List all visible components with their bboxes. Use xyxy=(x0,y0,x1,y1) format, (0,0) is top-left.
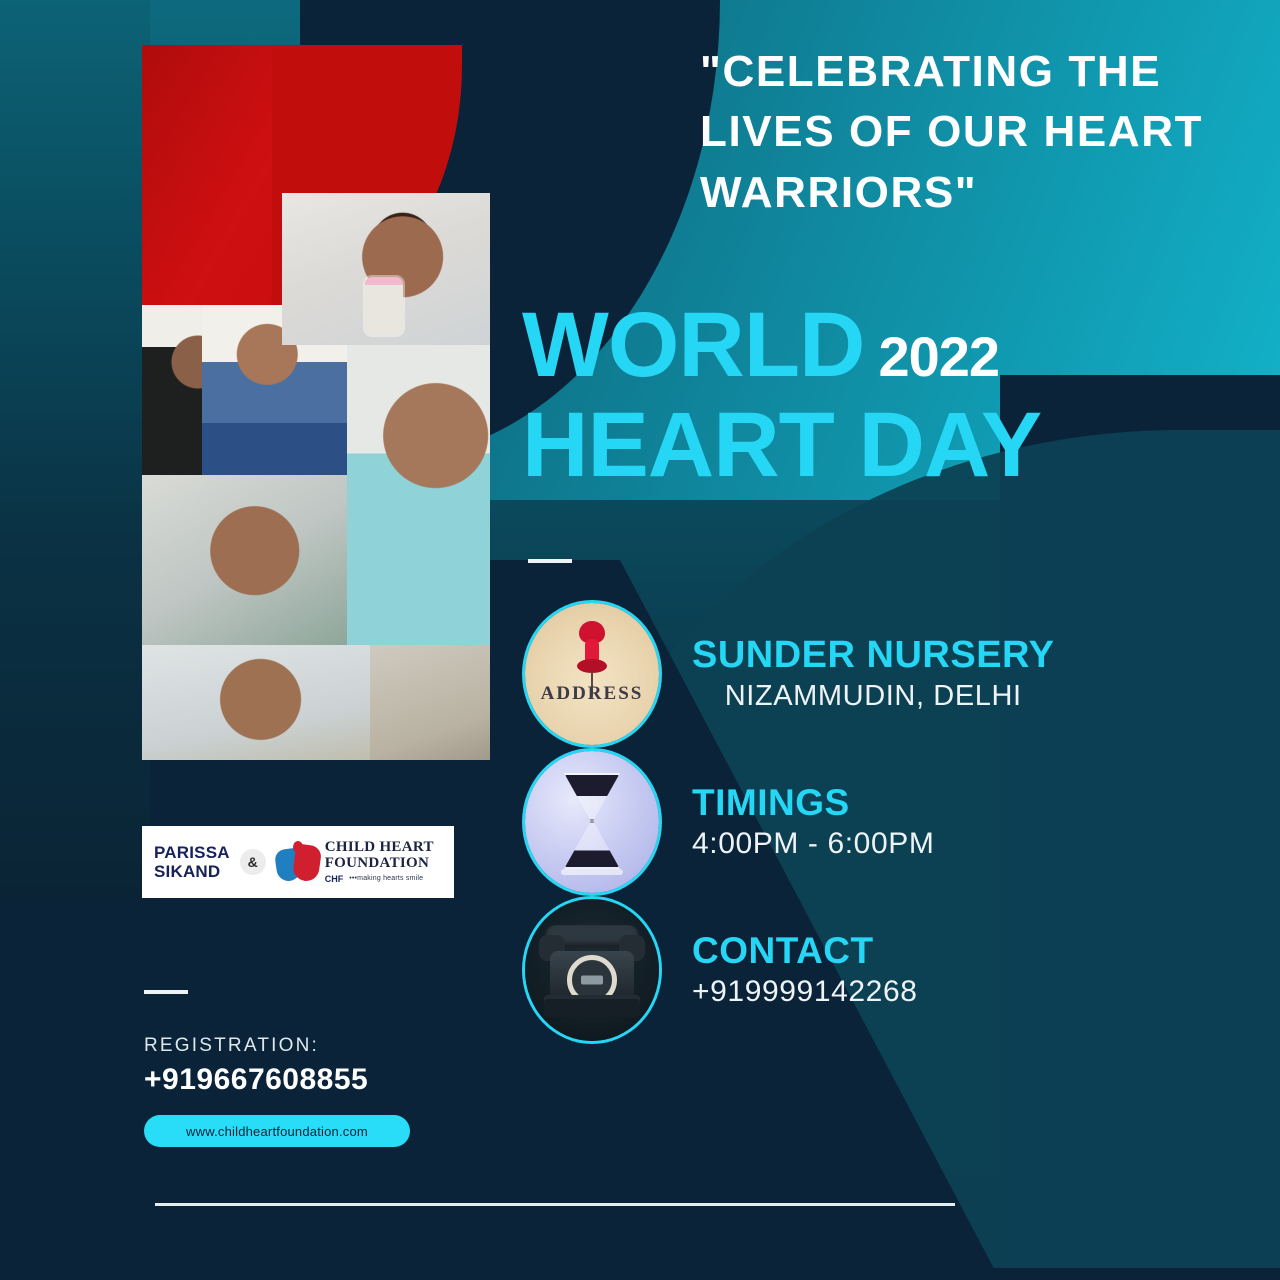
timings-label: TIMINGS xyxy=(692,783,934,824)
chf-name-line1: CHILD HEART xyxy=(325,840,434,856)
event-details: ADDRESS SUNDER NURSERY NIZAMMUDIN, DELHI… xyxy=(522,600,1162,1044)
partner-name-line1: PARISSA xyxy=(154,843,230,862)
poster-canvas: "CELEBRATING THE LIVES OF OUR HEART WARR… xyxy=(0,0,1280,1280)
quote-line-2: LIVES OF OUR HEART xyxy=(700,102,1270,162)
tagline-quote: "CELEBRATING THE LIVES OF OUR HEART WARR… xyxy=(700,42,1270,223)
contact-number[interactable]: +919999142268 xyxy=(692,975,918,1009)
contact-label: CONTACT xyxy=(692,931,918,972)
venue-name: SUNDER NURSERY xyxy=(692,635,1054,677)
decorative-dash-top xyxy=(528,559,572,563)
chf-name-line2: FOUNDATION xyxy=(325,856,434,872)
address-icon-caption: ADDRESS xyxy=(525,683,659,705)
title-heart-day: HEART DAY xyxy=(522,396,1041,495)
partner-logo-strip: PARISSA SIKAND & CHILD HEART FOUNDATION … xyxy=(142,826,454,898)
background-bottom-strip xyxy=(0,1268,1280,1280)
collage-photo xyxy=(142,645,370,760)
title-world: WORLD xyxy=(522,300,864,390)
background-left-sliver xyxy=(0,0,150,900)
partner-name-line2: SIKAND xyxy=(154,862,230,881)
collage-photo xyxy=(370,645,490,760)
rotary-phone-icon xyxy=(522,896,662,1044)
detail-row-timings: TIMINGS 4:00PM - 6:00PM xyxy=(522,748,1162,896)
decorative-dash-left xyxy=(144,990,188,994)
partner-name: PARISSA SIKAND xyxy=(154,843,230,881)
hourglass-icon xyxy=(522,748,662,896)
photo-collage xyxy=(142,45,490,760)
ampersand-badge: & xyxy=(240,849,266,875)
website-button[interactable]: www.childheartfoundation.com xyxy=(144,1115,410,1147)
registration-number[interactable]: +919667608855 xyxy=(144,1063,504,1097)
detail-row-address: ADDRESS SUNDER NURSERY NIZAMMUDIN, DELHI xyxy=(522,600,1162,748)
collage-photo xyxy=(282,193,490,345)
heart-logo-icon xyxy=(276,841,320,883)
registration-label: REGISTRATION: xyxy=(144,1035,504,1057)
title-year: 2022 xyxy=(878,324,999,389)
quote-line-1: "CELEBRATING THE xyxy=(700,42,1270,102)
collage-photo xyxy=(347,345,490,647)
registration-block: REGISTRATION: +919667608855 www.childhea… xyxy=(144,1035,504,1147)
quote-line-3: WARRIORS" xyxy=(700,163,1270,223)
chf-tagline: •••making hearts smile xyxy=(349,875,423,882)
page-title: WORLD 2022 HEART DAY xyxy=(522,300,1041,496)
footer-rule xyxy=(155,1203,955,1206)
address-pin-icon: ADDRESS xyxy=(522,600,662,748)
collage-photo xyxy=(142,475,347,647)
venue-locality: NIZAMMUDIN, DELHI xyxy=(692,680,1054,713)
chf-abbreviation: CHF xyxy=(325,874,344,884)
timings-value: 4:00PM - 6:00PM xyxy=(692,827,934,861)
detail-row-contact: CONTACT +919999142268 xyxy=(522,896,1162,1044)
chf-logo: CHILD HEART FOUNDATION CHF •••making hea… xyxy=(276,840,434,884)
